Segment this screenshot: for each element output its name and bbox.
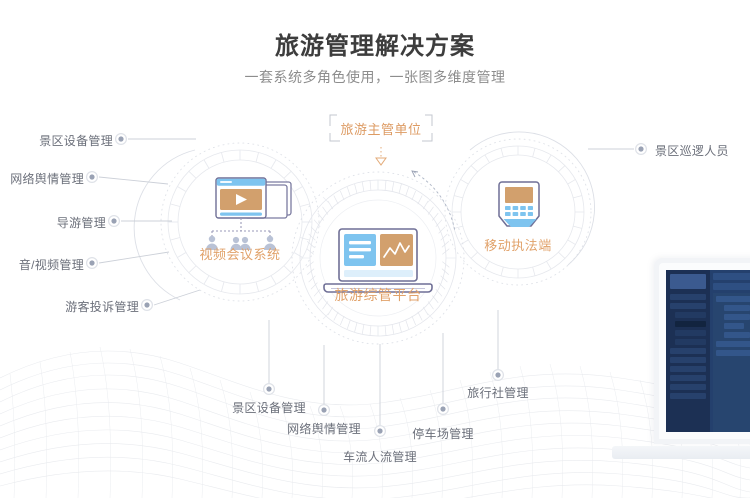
dashboard-tree-row — [716, 341, 750, 347]
page-root: 旅游管理解决方案 一套系统多角色使用，一张图多维度管理 — [0, 0, 750, 498]
dashboard-sidebar — [666, 270, 710, 432]
dashboard-tree-row — [724, 305, 750, 311]
node-caption-platform: 旅游综管平台 — [318, 285, 438, 305]
dashboard-tree-row — [724, 314, 750, 320]
center-to-right-connector — [412, 171, 455, 232]
video-window-people-icon — [206, 178, 291, 250]
dashboard-breadcrumb — [713, 283, 750, 290]
bottom-label-1: 网络舆情管理 — [287, 420, 361, 437]
dashboard-nav-item — [670, 303, 706, 309]
admin-dashboard-laptop-mockup — [654, 258, 750, 444]
bottom-label-4: 旅行社管理 — [467, 384, 529, 401]
node-caption-mobile-enforcement: 移动执法端 — [458, 235, 578, 254]
left-label-2: 导游管理 — [0, 214, 106, 231]
laptop-base — [612, 446, 750, 459]
node-caption-video-conference: 视频会议系统 — [175, 244, 305, 263]
bottom-label-0: 景区设备管理 — [232, 399, 306, 416]
right-label-0: 景区巡逻人员 — [655, 142, 729, 159]
dashboard-nav-item — [675, 330, 706, 336]
left-label-1: 网络舆情管理 — [0, 170, 84, 187]
authority-box: 旅游主管单位 — [330, 115, 432, 141]
solution-diagram — [0, 0, 750, 498]
dashboard-nav-item — [675, 339, 706, 345]
dashboard-nav-item — [670, 357, 706, 363]
dashboard-nav-item — [670, 348, 706, 354]
right-connector-dots — [636, 144, 647, 155]
dashboard-nav-item — [670, 375, 706, 381]
dashboard-nav-item — [670, 294, 706, 300]
left-label-4: 游客投诉管理 — [0, 298, 139, 315]
left-label-0: 景区设备管理 — [0, 132, 113, 149]
handheld-device-icon — [499, 182, 539, 227]
dashboard-tree-row — [716, 296, 750, 302]
dashboard-logo — [670, 274, 706, 289]
dashboard-screen — [666, 270, 750, 432]
dashboard-nav-item — [675, 321, 706, 327]
dashboard-nav-item — [670, 384, 706, 390]
dashboard-nav-item — [675, 312, 706, 318]
dashboard-tree-row — [716, 350, 750, 356]
laptop-dashboard-icon — [324, 229, 432, 292]
dashboard-main-panel — [710, 270, 750, 432]
dashboard-topbar — [713, 273, 750, 280]
left-node-rings — [134, 143, 319, 301]
left-label-3: 音/视频管理 — [0, 256, 84, 273]
bottom-label-3: 停车场管理 — [412, 425, 474, 442]
dashboard-tree-panel — [713, 293, 750, 432]
dashboard-nav-item — [670, 393, 706, 399]
authority-label: 旅游主管单位 — [330, 115, 432, 141]
dashboard-tree-row — [724, 323, 744, 329]
dashboard-tree-row — [724, 332, 750, 338]
dashboard-nav-item — [670, 366, 706, 372]
bottom-label-2: 车流人流管理 — [343, 448, 417, 465]
